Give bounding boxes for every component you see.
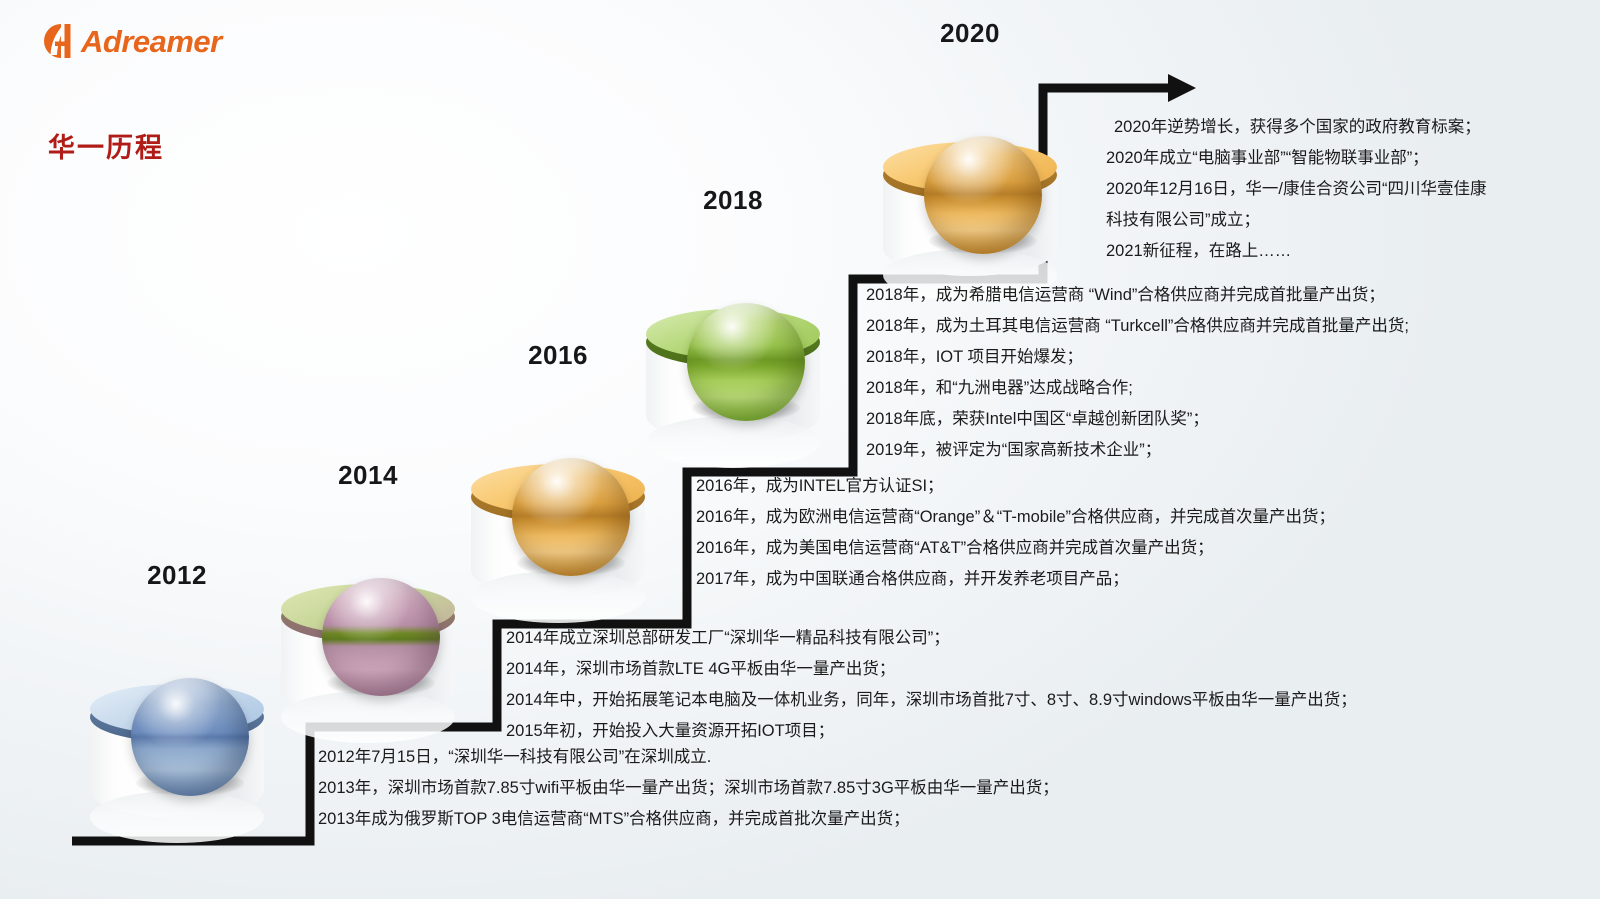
podium-cylinder-base <box>471 571 645 623</box>
timeline-step-2018: 2018 <box>618 185 848 485</box>
step-sphere <box>512 458 630 576</box>
event-line: 2020年逆势增长，获得多个国家的政府教育标案； <box>1114 112 1496 143</box>
brand-name: Adreamer <box>81 26 222 57</box>
events-2012: 2012年7月15日，“深圳华一科技有限公司”在深圳成立. 2013年，深圳市场… <box>318 742 1378 835</box>
step-podium <box>883 136 1057 286</box>
event-line: 2017年，成为中国联通合格供应商，并开发养老项目产品； <box>696 564 1596 595</box>
event-line: 2020年成立“电脑事业部”“智能物联事业部”； <box>1106 143 1496 174</box>
step-sphere <box>131 678 249 796</box>
events-2014: 2014年成立深圳总部研发工厂“深圳华一精品科技有限公司”； 2014年，深圳市… <box>506 623 1596 747</box>
brand-logo: Adreamer <box>42 22 222 60</box>
event-line: 2016年，成为美国电信运营商“AT&T”合格供应商并完成首次量产出货； <box>696 533 1596 564</box>
right-arrow-head-icon <box>1168 74 1196 102</box>
timeline-step-2020: 2020 <box>855 18 1085 318</box>
event-line: 2015年初，开始投入大量资源开拓IOT项目； <box>506 716 1596 747</box>
event-line: 2014年，深圳市场首款LTE 4G平板由华一量产出货； <box>506 654 1596 685</box>
event-line: 2016年，成为INTEL官方认证SI； <box>696 471 1596 502</box>
events-2020: 2020年逆势增长，获得多个国家的政府教育标案； 2020年成立“电脑事业部”“… <box>1106 112 1496 267</box>
event-line: 2013年成为俄罗斯TOP 3电信运营商“MTS”合格供应商，并完成首批次量产出… <box>318 804 1378 835</box>
event-line: 2020年12月16日，华一/康佳合资公司“四川华壹佳康科技有限公司”成立； <box>1106 174 1496 236</box>
podium-cylinder-base <box>281 691 455 743</box>
event-line: 2014年中，开始拓展笔记本电脑及一体机业务，同年，深圳市场首批7寸、8寸、8.… <box>506 685 1596 716</box>
page-title: 华一历程 <box>48 126 164 165</box>
podium-cylinder-base <box>90 791 264 843</box>
step-podium <box>281 578 455 728</box>
step-podium <box>90 678 264 828</box>
step-sphere <box>924 136 1042 254</box>
event-line: 2016年，成为欧洲电信运营商“Orange”＆“T-mobile”合格供应商，… <box>696 502 1596 533</box>
event-line: 2019年，被评定为“国家高新技术企业”； <box>866 435 1586 466</box>
step-sphere <box>687 303 805 421</box>
step-podium <box>646 303 820 453</box>
event-line: 2021新征程，在路上…… <box>1106 236 1496 267</box>
event-line: 2018年底，荣获Intel中国区“卓越创新团队奖”； <box>866 404 1586 435</box>
step-sphere <box>322 578 440 696</box>
event-line: 2013年，深圳市场首款7.85寸wifi平板由华一量产出货；深圳市场首款7.8… <box>318 773 1378 804</box>
step-year-label: 2018 <box>618 185 848 216</box>
event-line: 2018年，成为希腊电信运营商 “Wind”合格供应商并完成首批量产出货； <box>866 280 1586 311</box>
adreamer-a-logo-icon <box>42 22 80 60</box>
event-line: 2014年成立深圳总部研发工厂“深圳华一精品科技有限公司”； <box>506 623 1596 654</box>
event-line: 2018年，成为土耳其电信运营商 “Turkcell”合格供应商并完成首批量产出… <box>866 311 1586 342</box>
event-line: 2018年，IOT 项目开始爆发； <box>866 342 1586 373</box>
events-2018: 2018年，成为希腊电信运营商 “Wind”合格供应商并完成首批量产出货； 20… <box>866 280 1586 466</box>
event-line: 2018年，和“九洲电器”达成战略合作; <box>866 373 1586 404</box>
podium-cylinder-base <box>646 416 820 468</box>
step-year-label: 2020 <box>855 18 1085 49</box>
events-2016: 2016年，成为INTEL官方认证SI； 2016年，成为欧洲电信运营商“Ora… <box>696 471 1596 595</box>
